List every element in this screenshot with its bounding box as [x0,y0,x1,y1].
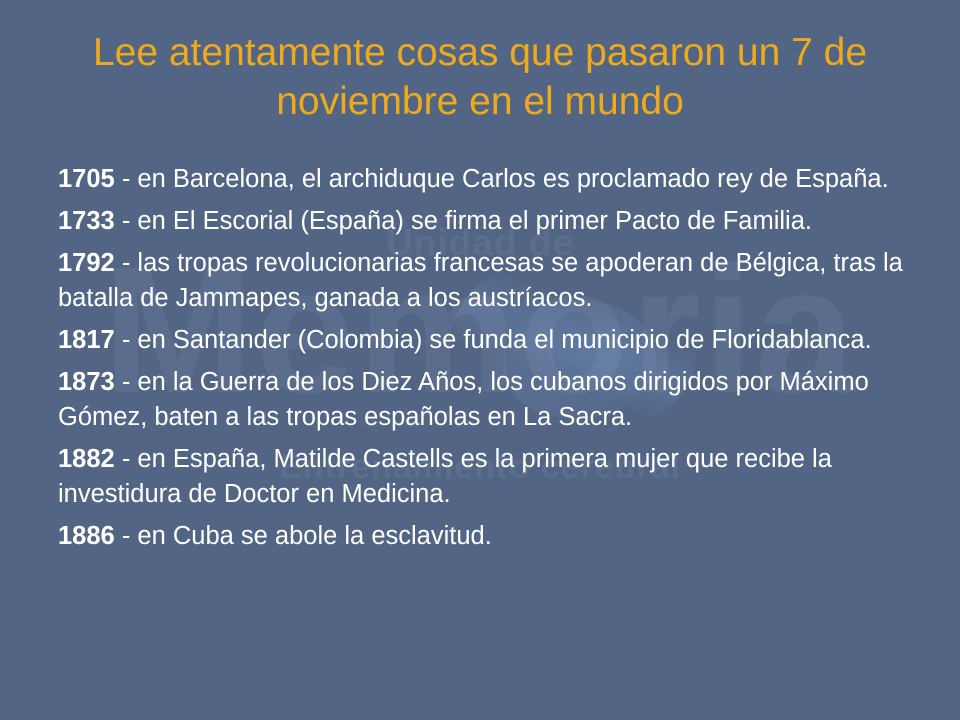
list-item: 1873 - en la Guerra de los Diez Años, lo… [58,365,950,435]
event-separator: - [115,368,138,396]
event-separator: - [115,326,138,354]
slide-content: Lee atentamente cosas que pasaron un 7 d… [0,0,960,720]
event-year: 1733 [58,207,115,235]
slide-canvas: Unidad de Memoria Entrenamiento cerebral… [0,0,960,720]
event-description: en Barcelona, el archiduque Carlos es pr… [137,165,888,193]
event-year: 1886 [58,522,115,550]
event-description: en Santander (Colombia) se funda el muni… [137,326,871,354]
event-separator: - [115,249,138,277]
event-separator: - [115,207,138,235]
page-title: Lee atentamente cosas que pasaron un 7 d… [48,28,912,126]
event-description: en El Escorial (España) se firma el prim… [137,207,812,235]
event-year: 1792 [58,249,115,277]
event-description: en España, Matilde Castells es la primer… [58,445,832,508]
event-description: en la Guerra de los Diez Años, los cuban… [58,368,869,431]
event-separator: - [115,445,138,473]
event-year: 1873 [58,368,115,396]
event-description: en Cuba se abole la esclavitud. [137,522,491,550]
event-separator: - [115,165,138,193]
list-item: 1792 - las tropas revolucionarias france… [58,246,950,316]
event-year: 1705 [58,165,115,193]
list-item: 1817 - en Santander (Colombia) se funda … [58,323,950,358]
list-item: 1733 - en El Escorial (España) se firma … [58,204,950,239]
list-item: 1705 - en Barcelona, el archiduque Carlo… [58,162,950,197]
list-item: 1882 - en España, Matilde Castells es la… [58,442,950,512]
list-item: 1886 - en Cuba se abole la esclavitud. [58,519,950,554]
event-separator: - [115,522,138,550]
event-year: 1882 [58,445,115,473]
events-list: 1705 - en Barcelona, el archiduque Carlo… [58,162,950,561]
event-year: 1817 [58,326,115,354]
event-description: las tropas revolucionarias francesas se … [58,249,903,312]
